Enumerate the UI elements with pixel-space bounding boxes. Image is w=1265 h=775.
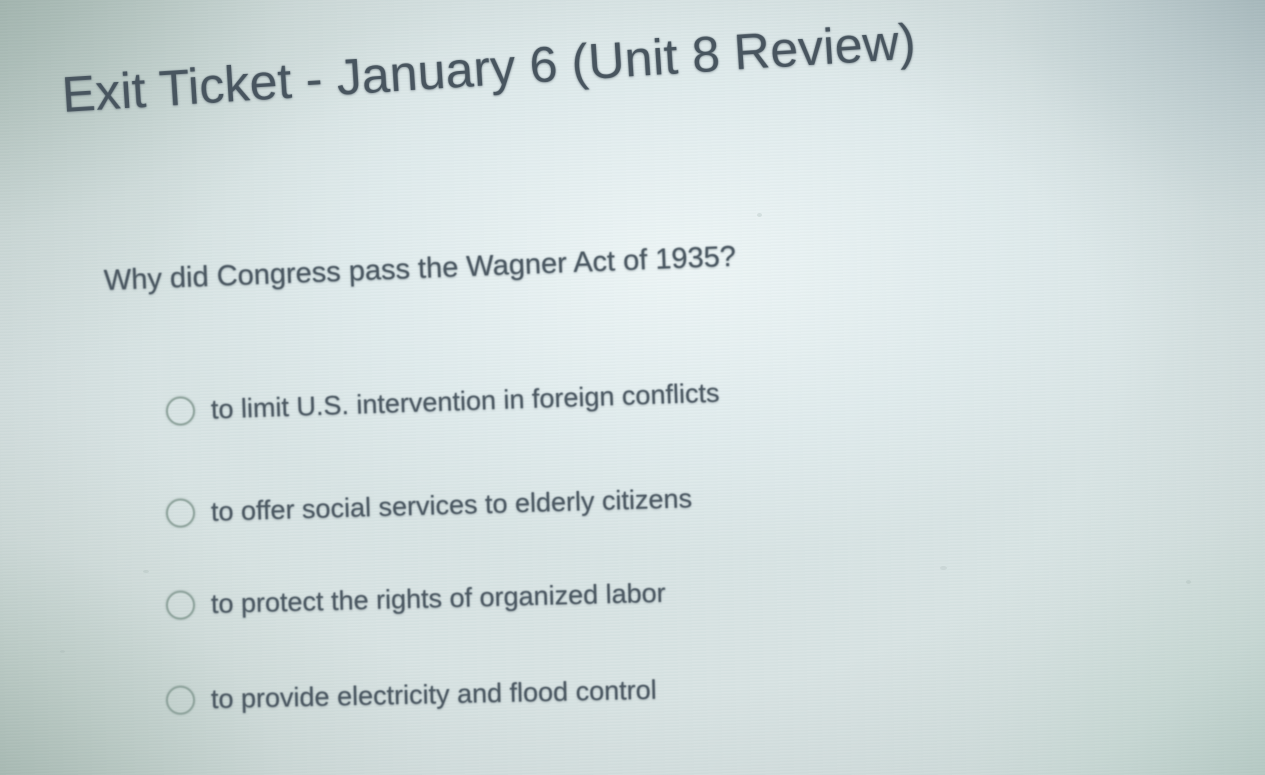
- answer-option-label: to provide electricity and flood control: [211, 675, 657, 715]
- answer-option-label: to protect the rights of organized labor: [211, 578, 666, 620]
- radio-button-unselected-icon[interactable]: [166, 685, 196, 715]
- answer-option-c[interactable]: to protect the rights of organized labor: [166, 578, 666, 621]
- answer-option-a[interactable]: to limit U.S. intervention in foreign co…: [165, 378, 719, 427]
- answer-option-b[interactable]: to offer social services to elderly citi…: [166, 483, 693, 529]
- answer-option-label: to offer social services to elderly citi…: [211, 483, 693, 527]
- answer-options-list: to limit U.S. intervention in foreign co…: [0, 0, 1265, 775]
- answer-option-label: to limit U.S. intervention in foreign co…: [210, 378, 719, 426]
- radio-button-unselected-icon[interactable]: [166, 498, 196, 528]
- answer-option-d[interactable]: to provide electricity and flood control: [166, 675, 657, 716]
- radio-button-unselected-icon[interactable]: [166, 396, 196, 426]
- radio-button-unselected-icon[interactable]: [166, 590, 196, 620]
- quiz-screen-photo: Exit Ticket - January 6 (Unit 8 Review) …: [0, 0, 1265, 775]
- quiz-content: Exit Ticket - January 6 (Unit 8 Review) …: [0, 0, 1265, 775]
